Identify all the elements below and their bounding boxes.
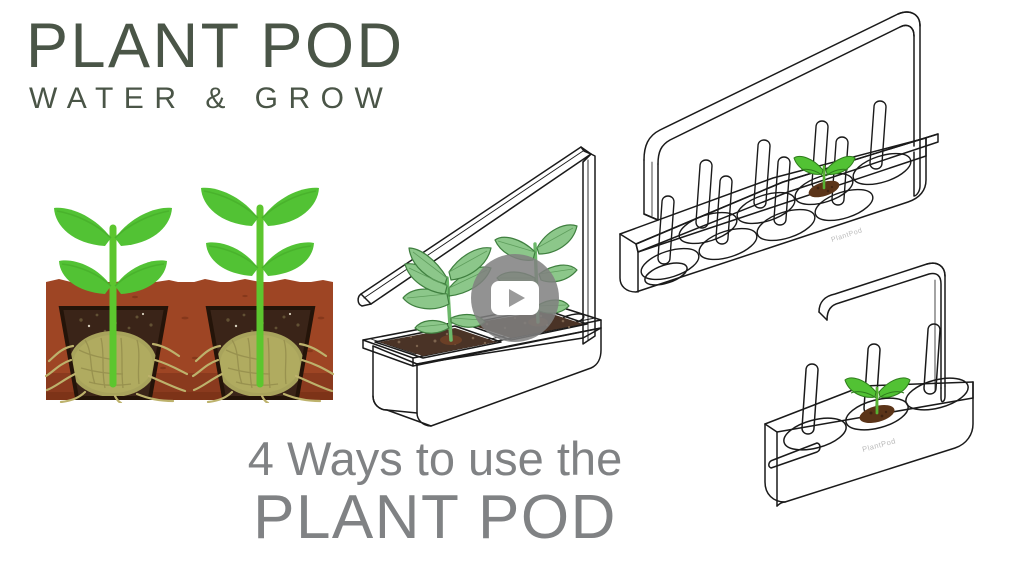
play-triangle-icon: [509, 289, 525, 307]
headline-line-2: PLANT POD: [0, 486, 870, 550]
play-badge: [491, 281, 539, 315]
soil-cross-section-illustration: [45, 168, 335, 403]
headline-block: 4 Ways to use the PLANT POD: [0, 432, 870, 550]
page-title: PLANT POD: [26, 12, 496, 80]
l-lamp: [819, 263, 945, 401]
youtube-play-button[interactable]: [471, 254, 559, 342]
headline-line-1: 4 Ways to use the: [0, 432, 870, 486]
device-brand-mark: PlantPod: [830, 227, 863, 244]
pod-stake-group: [658, 101, 886, 264]
arch-lamp: [644, 12, 920, 220]
brand-title-block: PLANT POD WATER & GROW: [26, 12, 496, 116]
page-subtitle: WATER & GROW: [29, 82, 496, 116]
video-thumbnail-canvas: PLANT POD WATER & GROW: [0, 0, 1024, 576]
